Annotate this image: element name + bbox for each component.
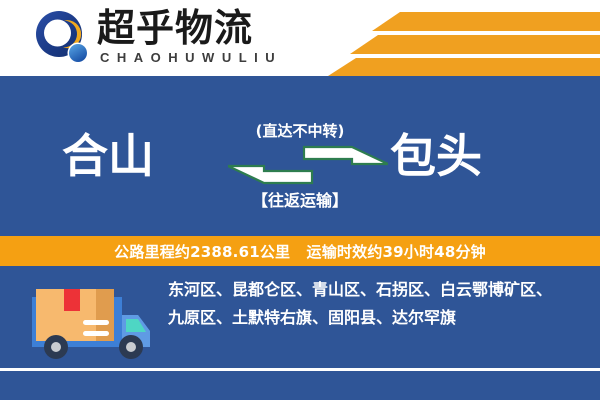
district-line-1: 东河区、昆都仑区、青山区、石拐区、白云鄂博矿区、	[168, 276, 586, 304]
header: 超乎物流 CHAOHUWULIU	[0, 0, 600, 76]
direct-route-note: (直达不中转)	[0, 120, 600, 141]
district-line-2: 九原区、土默特右旗、固阳县、达尔罕旗	[168, 304, 586, 332]
brand-name-en: CHAOHUWULIU	[100, 50, 282, 65]
logistics-route-banner: 超乎物流 CHAOHUWULIU 合山 包头 (直达不中转) 【往返运输】 公路…	[0, 0, 600, 400]
bidirectional-arrow-icon	[228, 145, 388, 185]
round-trip-note: 【往返运输】	[0, 187, 600, 211]
route-info-bar: 公路里程约2388.61公里 运输时效约39小时48分钟	[0, 236, 600, 266]
delivery-truck-icon	[26, 277, 158, 365]
brand-name-cn: 超乎物流	[97, 6, 253, 50]
orange-slanted-stripes-icon	[290, 0, 600, 76]
circle-crescent-logo-icon	[33, 9, 91, 67]
district-list: 东河区、昆都仑区、青山区、石拐区、白云鄂博矿区、 九原区、土默特右旗、固阳县、达…	[168, 276, 586, 332]
route-info-text: 公路里程约2388.61公里 运输时效约39小时48分钟	[114, 241, 486, 262]
footer	[0, 371, 600, 400]
